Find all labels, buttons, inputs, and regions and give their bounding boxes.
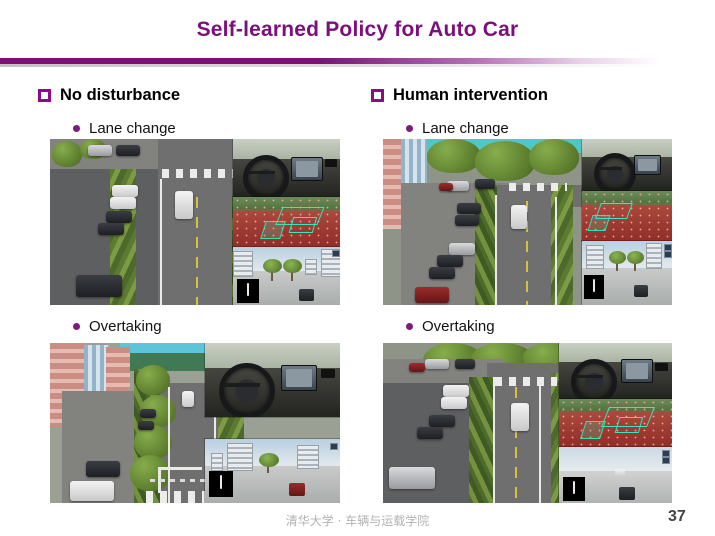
square-bullet-icon (38, 89, 51, 102)
inset-simulator-birdseye (205, 439, 340, 503)
subitem-label: Lane change (89, 121, 176, 136)
column-heading-label: Human intervention (393, 87, 548, 104)
inset-lidar-perception-overlay (582, 191, 672, 241)
inset-cockpit-steering-wheel (233, 139, 340, 197)
title-underline-shadow (0, 64, 660, 67)
subitem-lane-change-left: Lane change (73, 118, 180, 138)
column-no-disturbance: No disturbance Lane change (38, 84, 180, 138)
column-heading-no-disturbance: No disturbance (38, 84, 180, 106)
slide: Self-learned Policy for Auto Car No dist… (0, 0, 715, 536)
subitem-lane-change-right: Lane change (406, 118, 548, 138)
dot-bullet-icon (73, 323, 80, 330)
inset-cockpit-steering-wheel (582, 139, 672, 191)
footer-text: 清华大学 · 车辆与运载学院 (0, 512, 715, 529)
dot-bullet-icon (406, 125, 413, 132)
page-number: 37 (668, 508, 702, 526)
subitem-label: Lane change (422, 121, 509, 136)
column-heading-human-intervention: Human intervention (371, 84, 548, 106)
inset-simulator-birdseye (582, 241, 672, 305)
inset-simulator-birdseye (233, 247, 340, 305)
subitem-overtaking-right: Overtaking (406, 316, 495, 336)
dot-bullet-icon (406, 323, 413, 330)
inset-cockpit-steering-wheel (559, 343, 672, 399)
inset-lidar-perception-overlay (559, 399, 672, 447)
media-overtaking-human-intervention[interactable] (383, 343, 672, 503)
media-overtaking-no-disturbance[interactable] (50, 343, 340, 503)
subitem-overtaking-left: Overtaking (73, 316, 162, 336)
column-human-intervention: Human intervention Lane change (371, 84, 548, 138)
subitem-label: Overtaking (422, 319, 495, 334)
column-heading-label: No disturbance (60, 87, 180, 104)
square-bullet-icon (371, 89, 384, 102)
media-lane-change-human-intervention[interactable] (383, 139, 672, 305)
subitem-label: Overtaking (89, 319, 162, 334)
dot-bullet-icon (73, 125, 80, 132)
inset-lidar-perception-overlay (233, 197, 340, 247)
inset-simulator-birdseye (559, 447, 672, 503)
inset-cockpit-steering-wheel (205, 343, 340, 417)
page-title: Self-learned Policy for Auto Car (0, 18, 715, 42)
media-lane-change-no-disturbance[interactable] (50, 139, 340, 305)
